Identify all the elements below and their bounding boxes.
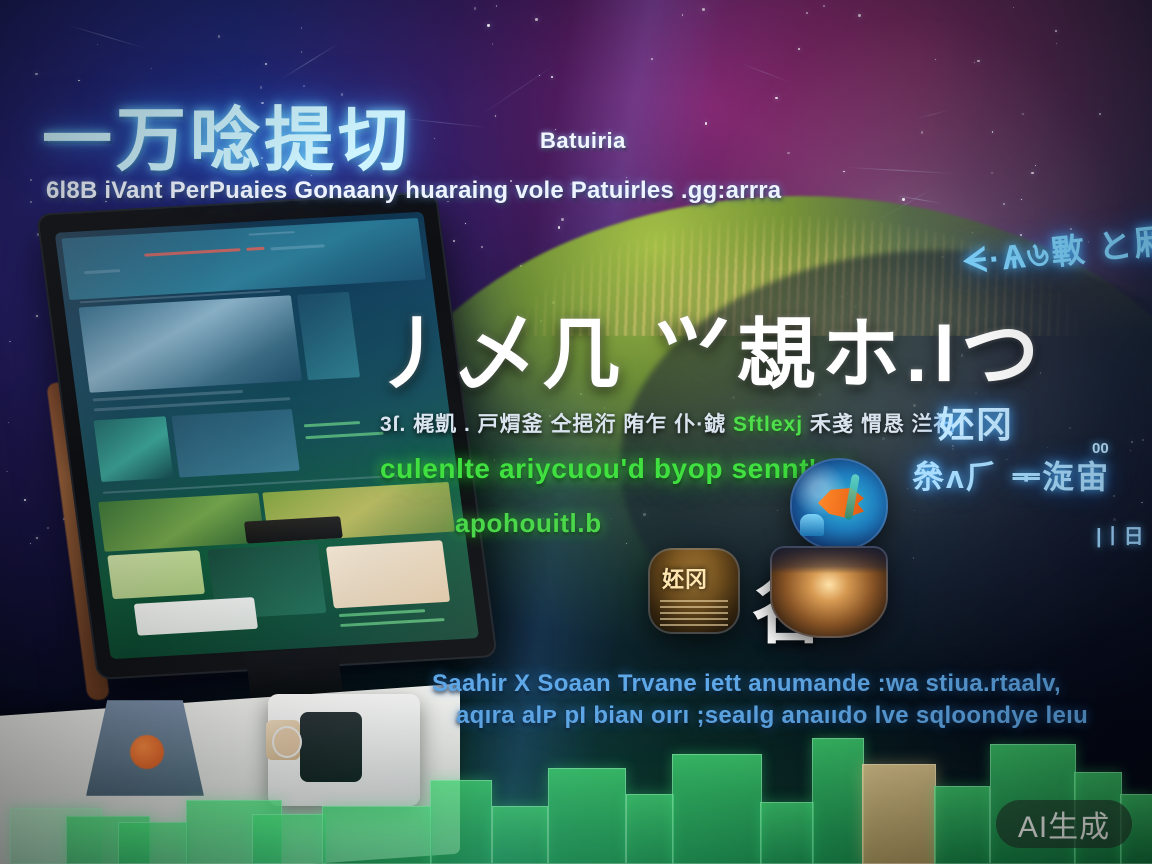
- page-subtitle: 6l8B iVant PerPuaies Gonaany huaraing vo…: [46, 177, 781, 205]
- poster-thumbnail[interactable]: 㚰冈: [648, 548, 740, 634]
- hologram-building: [626, 794, 674, 864]
- side-heading-a: 㚰冈: [938, 396, 1014, 448]
- side-heading-c: 00: [1092, 440, 1109, 457]
- aquarium-thumbnail[interactable]: [790, 458, 888, 550]
- feature-line-prefix: 3ſ. 梶凱 . 戸焨釜 仝挹洐 陏乍 仆·錿: [380, 413, 726, 436]
- main-headline: 丿乄几 ⺍覟ホ.lつ: [374, 292, 1045, 404]
- footer-line-2: aqıra alᴘ pI biaɴ oırı ;seaılg anaııdo l…: [432, 700, 1132, 732]
- landscape-thumbnail[interactable]: [770, 546, 888, 638]
- green-tagline-1: culenlte ariycuou'd byop sennt'ng: [380, 453, 852, 485]
- hologram-building: [672, 754, 762, 864]
- poster-thumbnail-glyph: 㚰冈: [662, 562, 708, 594]
- feature-line-highlight: Sftlexj: [733, 413, 803, 436]
- hologram-building: [934, 786, 990, 864]
- side-heading-d: |丨日: [1096, 520, 1145, 549]
- hologram-building: [548, 768, 626, 864]
- hologram-building: [862, 764, 936, 864]
- poster-thumbnail-lines: [660, 600, 728, 626]
- hologram-building: [492, 806, 548, 864]
- side-heading-b: 㕘ʌ⺁ ᆍ㳬宙: [912, 452, 1110, 498]
- hologram-building: [760, 802, 814, 864]
- footer-text-block: Saahir X Soaan Trvane iett anumande :wa …: [432, 668, 1132, 731]
- hologram-building: [430, 780, 492, 864]
- hologram-building: [118, 822, 188, 864]
- feature-line-suffix: 禾戔 㥜恳 㳕祀: [810, 413, 956, 436]
- ai-watermark-badge: AI生成: [996, 800, 1132, 848]
- hologram-building: [322, 806, 432, 864]
- hologram-building: [252, 814, 326, 864]
- green-tagline-2: apohouitl.b: [455, 508, 602, 539]
- hologram-building: [812, 738, 864, 864]
- fish-icon: [818, 488, 864, 518]
- coral-icon: [800, 514, 824, 536]
- poster-canvas: 一万唸提切 Batuiria 6l8B iVant PerPuaies Gona…: [0, 0, 1152, 864]
- footer-line-1: Saahir X Soaan Trvane iett anumande :wa …: [432, 668, 1132, 700]
- title-badge: Batuiria: [540, 128, 626, 154]
- feature-line: 3ſ. 梶凱 . 戸焨釜 仝挹洐 陏乍 仆·錿 Sftlexj 禾戔 㥜恳 㳕祀: [380, 408, 956, 438]
- page-title: 一万唸提切: [42, 84, 412, 185]
